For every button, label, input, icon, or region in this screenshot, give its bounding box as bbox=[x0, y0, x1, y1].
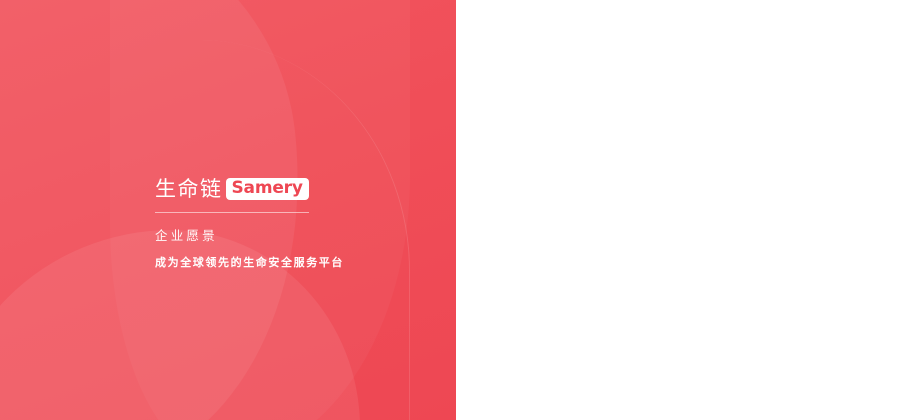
right-content-panel: 深圳交易集团 深圳联合产权交易所 bbox=[456, 0, 906, 420]
brand-logo: 生命链 Samery bbox=[155, 176, 405, 202]
brand-logo-cn: 生命链 bbox=[155, 179, 223, 200]
vision-label: 企业愿景 bbox=[155, 225, 405, 244]
slide-root: 生命链 Samery 企业愿景 成为全球领先的生命安全服务平台 深圳 bbox=[0, 0, 906, 420]
brand-divider bbox=[155, 212, 309, 213]
vision-text: 成为全球领先的生命安全服务平台 bbox=[155, 254, 405, 270]
left-red-panel: 生命链 Samery 企业愿景 成为全球领先的生命安全服务平台 bbox=[0, 0, 456, 420]
brand-block: 生命链 Samery 企业愿景 成为全球领先的生命安全服务平台 bbox=[155, 176, 405, 270]
brand-logo-badge: Samery bbox=[226, 178, 309, 200]
brand-logo-en: Samery bbox=[232, 180, 303, 197]
